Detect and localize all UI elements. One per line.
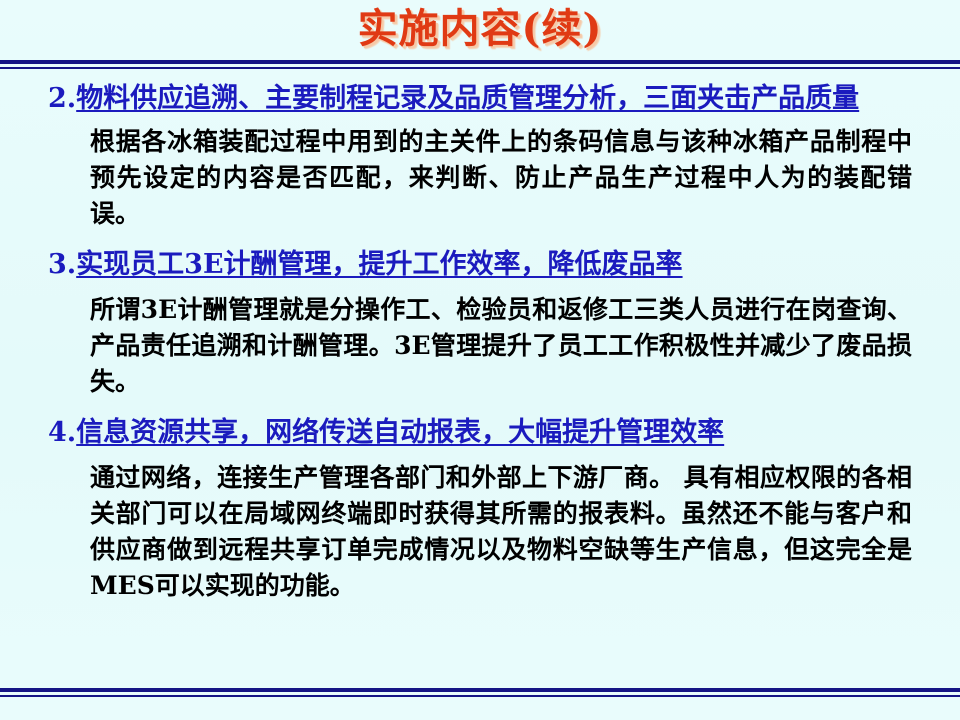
- paragraph-item-4: 通过网络，连接生产管理各部门和外部上下游厂商。 具有相应权限的各相关部门可以在局…: [48, 460, 930, 604]
- heading-item-4: 4.信息资源共享，网络传送自动报表，大幅提升管理效率: [48, 414, 930, 452]
- heading-item-3-number: 3.: [48, 249, 76, 280]
- bottom-divider: [0, 688, 960, 697]
- paragraph-item-2: 根据各冰箱装配过程中用到的主关件上的条码信息与该种冰箱产品制程中预先设定的内容是…: [48, 124, 930, 232]
- slide-content: 2.物料供应追溯、主要制程记录及品质管理分析，三面夹击产品质量 根据各冰箱装配过…: [0, 80, 960, 606]
- bottom-divider-thin-line: [0, 695, 960, 697]
- content-block-4: 4.信息资源共享，网络传送自动报表，大幅提升管理效率 通过网络，连接生产管理各部…: [48, 414, 930, 604]
- heading-item-3-text: 实现员工3E计酬管理，提升工作效率，降低废品率: [76, 249, 682, 280]
- content-block-2: 2.物料供应追溯、主要制程记录及品质管理分析，三面夹击产品质量 根据各冰箱装配过…: [48, 80, 930, 232]
- heading-item-2: 2.物料供应追溯、主要制程记录及品质管理分析，三面夹击产品质量: [48, 80, 930, 118]
- top-divider: [0, 60, 960, 69]
- slide-title-area: 实施内容(续): [0, 4, 960, 58]
- heading-item-2-number: 2.: [48, 83, 76, 114]
- top-divider-thin-line: [0, 67, 960, 69]
- paragraph-item-3: 所谓3E计酬管理就是分操作工、检验员和返修工三类人员进行在岗查询、产品责任追溯和…: [48, 292, 930, 400]
- heading-item-3: 3.实现员工3E计酬管理，提升工作效率，降低废品率: [48, 246, 930, 284]
- heading-item-2-text: 物料供应追溯、主要制程记录及品质管理分析，三面夹击产品质量: [76, 83, 859, 114]
- heading-item-4-text: 信息资源共享，网络传送自动报表，大幅提升管理效率: [76, 417, 724, 448]
- heading-item-4-number: 4.: [48, 417, 76, 448]
- slide-title: 实施内容(续): [358, 4, 603, 54]
- content-block-3: 3.实现员工3E计酬管理，提升工作效率，降低废品率 所谓3E计酬管理就是分操作工…: [48, 246, 930, 400]
- presentation-slide: 实施内容(续) 2.物料供应追溯、主要制程记录及品质管理分析，三面夹击产品质量 …: [0, 0, 960, 720]
